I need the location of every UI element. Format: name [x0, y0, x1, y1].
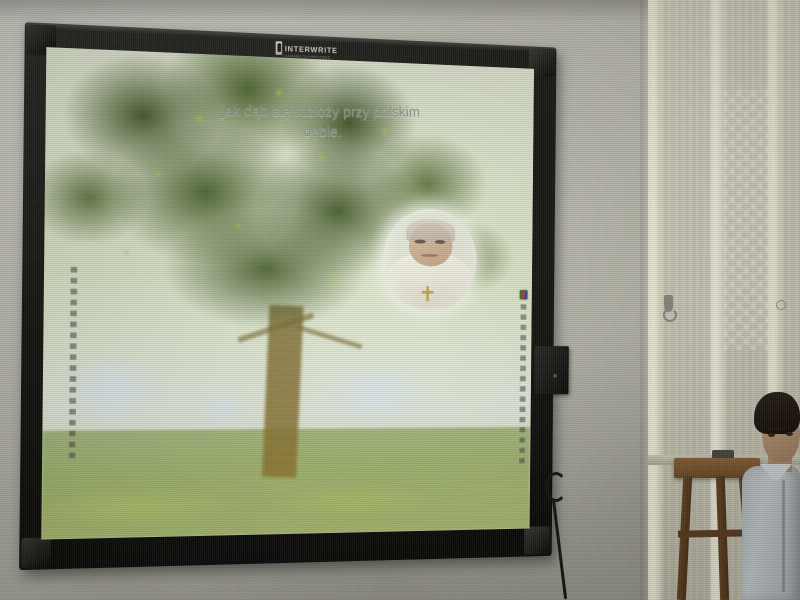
portrait-hair	[406, 219, 455, 243]
tool-14-icon[interactable]	[519, 427, 525, 433]
tool-8-icon[interactable]	[70, 343, 77, 349]
tool-3-icon[interactable]	[70, 289, 77, 295]
tool-15-icon[interactable]	[69, 420, 76, 426]
chair-rail	[678, 529, 752, 537]
lace-pattern	[724, 90, 768, 350]
cable-loop	[545, 472, 567, 502]
tool-2-icon[interactable]	[70, 278, 77, 284]
interwrite-logo-text: INTERWRITE	[285, 44, 338, 54]
window-mullion	[648, 0, 661, 600]
pope-portrait-image	[383, 208, 478, 312]
tool-5-icon[interactable]	[520, 335, 526, 341]
tool-2-icon[interactable]	[520, 304, 526, 310]
frame-corner-bracket	[524, 526, 550, 555]
interwrite-logo: INTERWRITE LEARNING TECHNOLOGIES	[272, 40, 341, 58]
tool-12-icon[interactable]	[69, 387, 76, 393]
portrait-eye	[415, 239, 426, 243]
tool-5-icon[interactable]	[70, 310, 77, 316]
tool-7-icon[interactable]	[70, 332, 77, 338]
tool-4-icon[interactable]	[70, 299, 77, 305]
projected-slide: jak dąb się rozłoży przy polskim dębie.	[41, 47, 534, 540]
tool-16-icon[interactable]	[519, 448, 525, 454]
person-shirt	[742, 466, 800, 600]
tool-11-icon[interactable]	[520, 396, 526, 402]
tool-9-icon[interactable]	[70, 354, 77, 360]
tool-16-icon[interactable]	[69, 431, 76, 437]
person-eye	[768, 433, 775, 437]
tool-13-icon[interactable]	[69, 398, 76, 404]
curtain-ring-icon	[776, 300, 786, 310]
tool-14-icon[interactable]	[69, 409, 76, 415]
shirt-placket	[782, 480, 785, 592]
slide-headline: jak dąb się rozłoży przy polskim dębie.	[194, 101, 446, 143]
frame-corner-bracket	[21, 537, 51, 568]
tool-9-icon[interactable]	[520, 376, 526, 382]
seated-person	[742, 392, 800, 600]
chair-leg	[716, 476, 729, 600]
window-latch-icon	[664, 295, 673, 311]
tool-3-icon[interactable]	[520, 314, 526, 320]
pectoral-cross-icon	[426, 286, 429, 301]
tool-17-icon[interactable]	[69, 442, 76, 448]
module-indicator-icon	[553, 374, 556, 378]
tool-8-icon[interactable]	[520, 366, 526, 372]
tool-4-icon[interactable]	[520, 325, 526, 331]
interactive-whiteboard[interactable]: INTERWRITE LEARNING TECHNOLOGIES jak dąb…	[19, 22, 556, 570]
tool-15-icon[interactable]	[519, 437, 525, 443]
tool-6-icon[interactable]	[70, 321, 77, 327]
projection-screen[interactable]: jak dąb się rozłoży przy polskim dębie.	[41, 47, 534, 540]
tool-7-icon[interactable]	[520, 355, 526, 361]
tool-17-icon[interactable]	[519, 458, 525, 464]
color-picker-icon[interactable]	[520, 290, 528, 299]
photo-scene: INTERWRITE LEARNING TECHNOLOGIES jak dąb…	[0, 0, 800, 600]
whiteboard-side-module[interactable]	[534, 346, 569, 394]
slide-headline-line-1: jak dąb się rozłoży przy polskim	[194, 101, 446, 123]
slide-headline-line-2: dębie.	[194, 122, 446, 144]
chair-leg	[677, 476, 692, 600]
tool-12-icon[interactable]	[519, 407, 525, 413]
person-eye	[786, 432, 793, 436]
tool-18-icon[interactable]	[69, 452, 76, 458]
tool-10-icon[interactable]	[520, 386, 526, 392]
tool-13-icon[interactable]	[519, 417, 525, 423]
tool-6-icon[interactable]	[520, 345, 526, 351]
tool-10-icon[interactable]	[70, 365, 77, 371]
tool-11-icon[interactable]	[69, 376, 76, 382]
tool-1-icon[interactable]	[71, 267, 78, 273]
interwrite-i-icon	[276, 41, 282, 55]
